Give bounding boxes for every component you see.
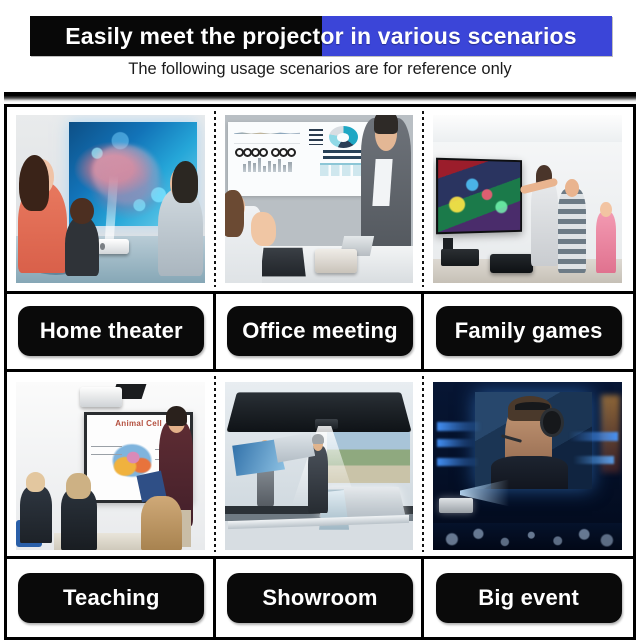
page-subtitle: The following usage scenarios are for re…	[0, 60, 640, 79]
label-cell-teaching: Teaching	[7, 559, 216, 637]
scenario-image-teaching: Animal Cell	[7, 372, 216, 556]
label-cell-big-event: Big event	[424, 559, 633, 637]
room-ceiling	[433, 115, 622, 142]
donut-chart-graphic	[329, 126, 358, 148]
legend-graphic	[309, 129, 323, 145]
label-cell-office-meeting: Office meeting	[216, 294, 425, 369]
projection-screen	[436, 157, 522, 233]
scenario-image-row-2: Animal Cell	[7, 372, 633, 556]
bar-chart-graphic	[243, 156, 292, 172]
projected-dashboard-slide	[228, 122, 371, 196]
person-mother	[531, 179, 557, 266]
label-cell-family-games: Family games	[424, 294, 633, 369]
scenario-image-showroom	[216, 372, 425, 556]
stage-light-beam-2	[437, 439, 475, 447]
clapping-hands	[251, 212, 276, 246]
scenario-pill-showroom[interactable]: Showroom	[227, 573, 413, 623]
scenario-infographic-page: Easily meet the projector in various sce…	[0, 0, 640, 640]
photo-teaching: Animal Cell	[16, 382, 205, 550]
laptop-primary	[261, 248, 306, 277]
page-title: Easily meet the projector in various sce…	[30, 16, 612, 56]
person-father	[558, 189, 586, 273]
projector-device-icon	[97, 239, 129, 254]
line-chart-graphic	[234, 128, 300, 144]
person-man	[158, 189, 203, 276]
label-cell-showroom: Showroom	[216, 559, 425, 637]
person-woman	[18, 182, 67, 273]
person-child	[596, 212, 617, 272]
photo-big-event	[433, 382, 622, 550]
projector-device-icon	[490, 254, 533, 272]
page-header: Easily meet the projector in various sce…	[0, 0, 640, 100]
scenario-image-family-games	[424, 107, 633, 291]
stage-light-beam-1	[437, 422, 482, 430]
scenario-label-row-1: Home theater Office meeting Family games	[7, 291, 633, 372]
headset-band	[515, 402, 550, 410]
stage-light-beam-5	[573, 456, 615, 464]
scenario-image-home-theater	[7, 107, 216, 291]
photo-home-theater	[16, 115, 205, 283]
scenario-image-office-meeting	[216, 107, 425, 291]
photo-family-games	[433, 115, 622, 283]
header-divider-bar	[4, 92, 636, 102]
scenario-label-row-2: Teaching Showroom Big event	[7, 556, 633, 637]
timeline-dots-graphic	[234, 147, 300, 153]
presenter-shirt	[372, 159, 392, 206]
scenario-pill-family-games[interactable]: Family games	[436, 306, 622, 356]
person-student-1	[20, 486, 52, 543]
scenario-pill-office-meeting[interactable]: Office meeting	[227, 306, 413, 356]
table-graphic	[323, 150, 363, 160]
photo-showroom	[225, 382, 414, 550]
photo-office-meeting	[225, 115, 414, 283]
scenario-image-row-1	[7, 107, 633, 291]
title-banner: Easily meet the projector in various sce…	[30, 16, 612, 56]
label-cell-home-theater: Home theater	[7, 294, 216, 369]
person-child	[65, 216, 99, 276]
person-student-2	[61, 489, 97, 549]
projector-device-icon	[80, 387, 122, 407]
projector-device-icon	[315, 249, 357, 273]
scenario-pill-home-theater[interactable]: Home theater	[18, 306, 204, 356]
scenario-image-big-event	[424, 372, 633, 556]
person-student-3	[141, 496, 183, 550]
scenario-pill-big-event[interactable]: Big event	[436, 573, 622, 623]
projector-device-icon	[439, 498, 473, 513]
stage-light-beam-3	[437, 458, 479, 466]
media-stand	[441, 249, 479, 266]
stage-light-beam-4	[569, 432, 618, 440]
flow-diagram-graphic	[320, 163, 366, 176]
scenario-pill-teaching[interactable]: Teaching	[18, 573, 204, 623]
audience-crowd	[433, 523, 622, 550]
headset-earcup-icon	[540, 408, 563, 437]
scenario-grid: Home theater Office meeting Family games…	[4, 104, 636, 640]
